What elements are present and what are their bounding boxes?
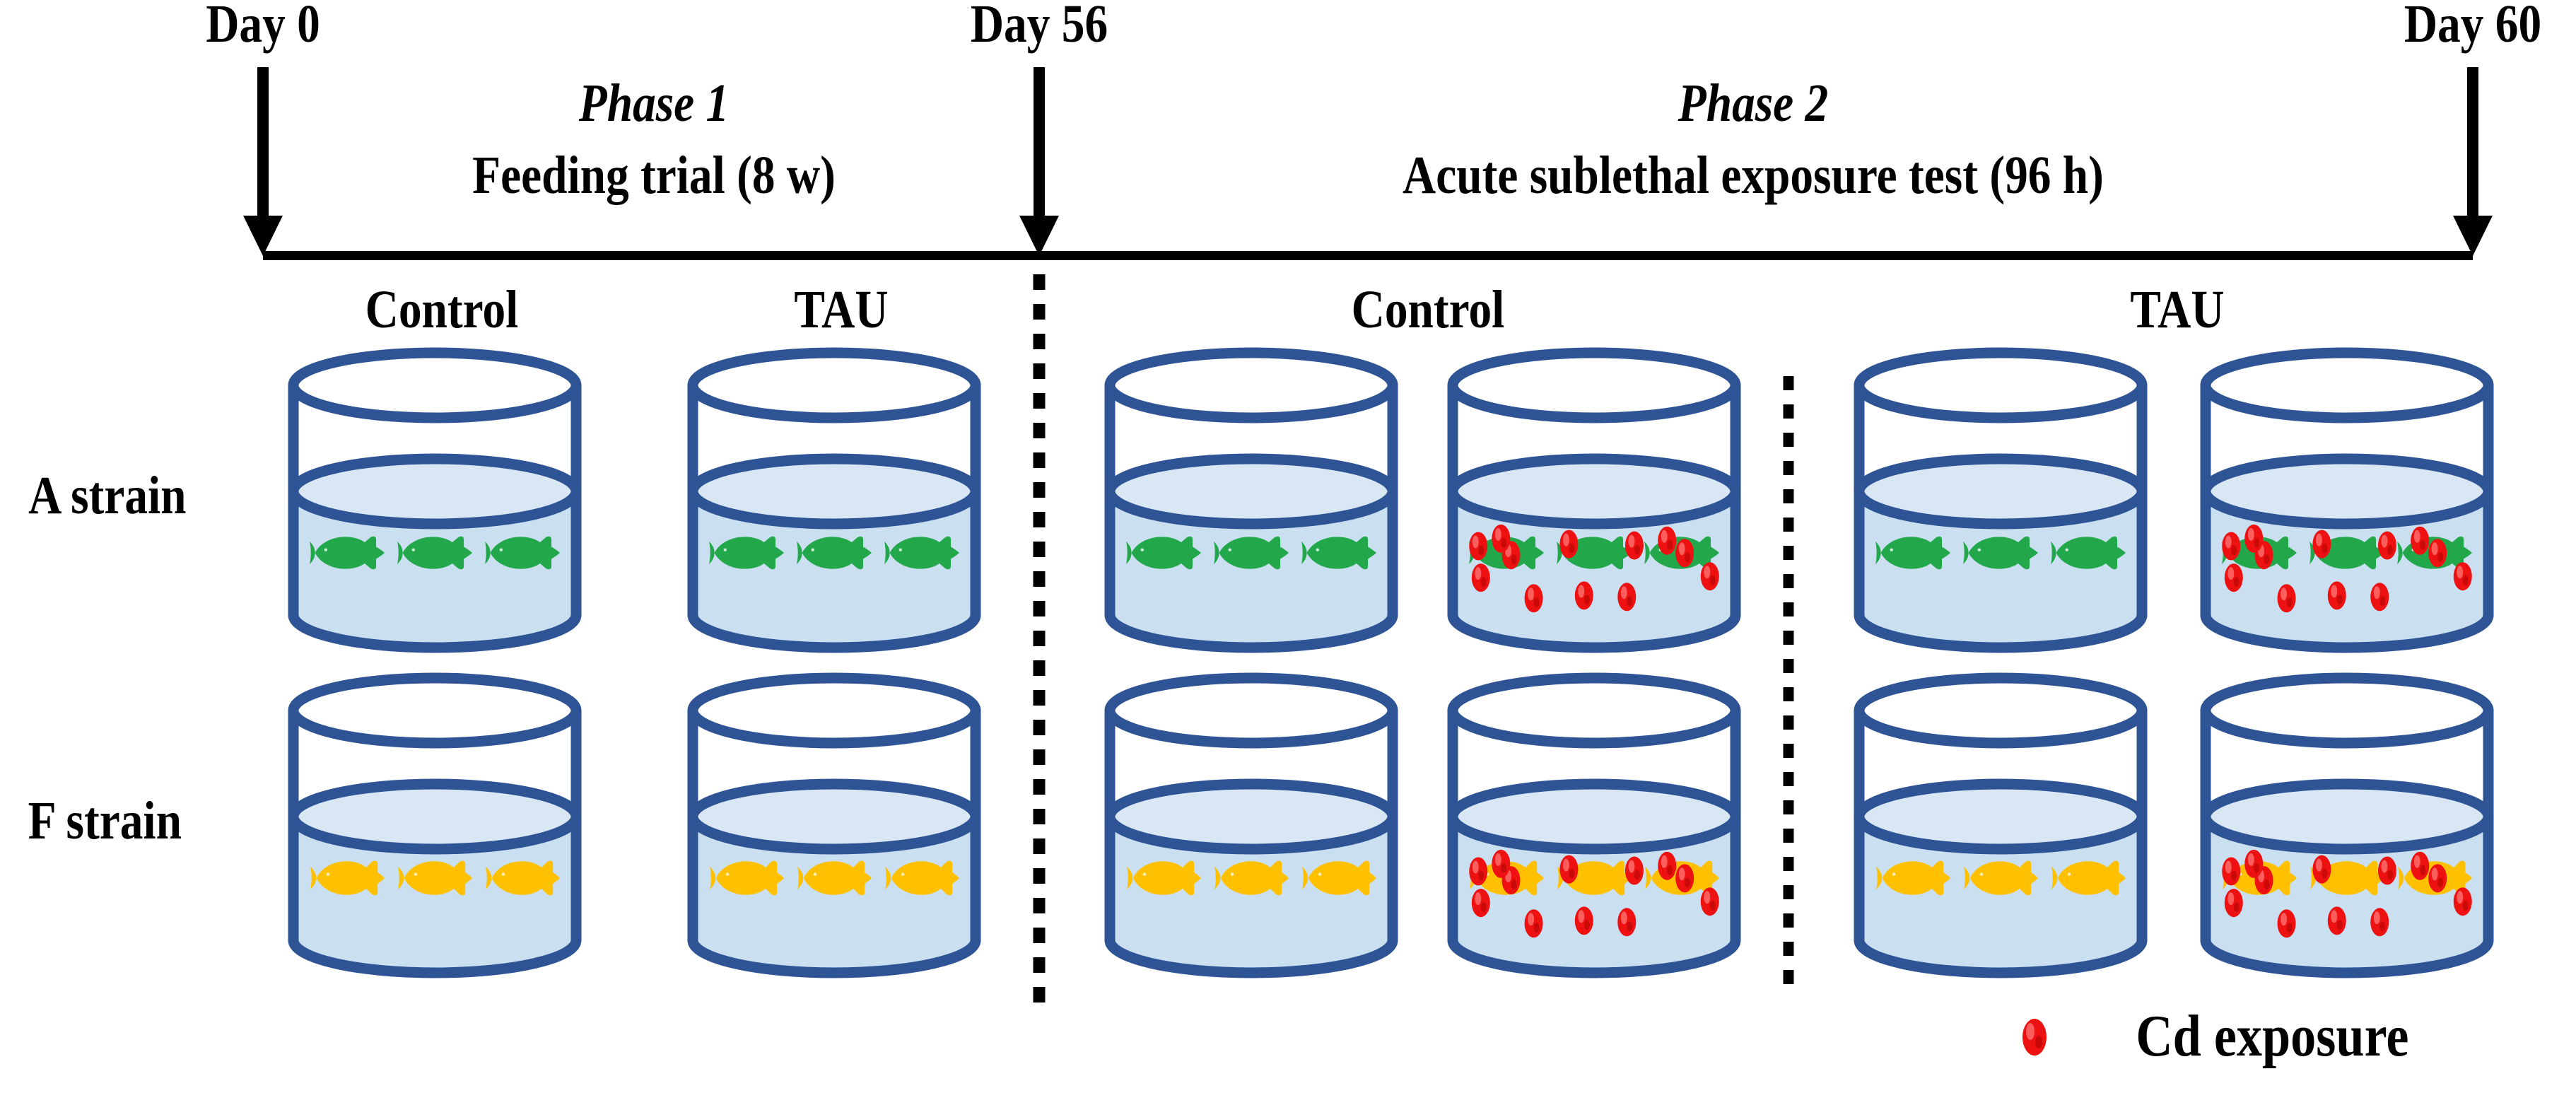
- tank-f-p2-control-cd: [1453, 678, 1735, 973]
- cd-dot-icon: [1492, 850, 1510, 878]
- row-label-a-strain: A strain: [28, 469, 186, 522]
- timeline-arrow-day56: [1019, 67, 1059, 256]
- phase1-title: Phase 1: [472, 76, 836, 130]
- cd-dot-icon: [1472, 889, 1490, 917]
- cd-dot-icon: [2312, 530, 2331, 559]
- timeline-label-day0: Day 0: [148, 0, 379, 51]
- cd-dot-icon: [1575, 906, 1593, 935]
- cd-dot-icon: [1469, 532, 1487, 561]
- cd-dot-icon: [2370, 583, 2389, 611]
- cd-dot-icon: [2244, 525, 2263, 553]
- group-header-p2-control: Control: [1276, 283, 1580, 337]
- timeline-label-day56: Day 56: [924, 0, 1155, 51]
- cd-dot-icon: [1617, 583, 1636, 611]
- cd-dot-icon: [1701, 887, 1719, 916]
- cd-dot-icon: [2225, 889, 2243, 917]
- cd-dot-icon: [1617, 908, 1636, 936]
- cd-dot-icon: [1492, 525, 1510, 553]
- cd-dot-icon: [2278, 909, 2296, 937]
- cd-dot-icon: [1469, 858, 1487, 886]
- cd-dot-icon: [2378, 532, 2396, 560]
- timeline-baseline: [263, 251, 2473, 260]
- cd-dot-icon: [2411, 852, 2429, 880]
- cd-dot-icon: [2428, 539, 2447, 567]
- cd-dot-icon: [2328, 906, 2346, 935]
- cd-dot-icon: [1472, 563, 1490, 592]
- cd-dot-icon: [1559, 530, 1578, 559]
- cd-dot-icon: [1575, 581, 1593, 609]
- timeline-label-day60: Day 60: [2358, 0, 2576, 51]
- legend-label: Cd exposure: [2136, 1007, 2408, 1066]
- cd-dot-icon: [1658, 527, 1676, 555]
- figure-canvas: Day 0 Day 56 Day 60 Phase 1 Feeding tria…: [0, 0, 2576, 1093]
- cd-dot-icon: [1658, 852, 1676, 880]
- phase2-subtitle: Acute sublethal exposure test (96 h): [1206, 148, 2300, 202]
- tank-f-p2-control: [1110, 678, 1393, 973]
- tank-f-p2-tau: [1859, 678, 2142, 973]
- cd-dot-icon: [1625, 532, 1644, 560]
- tank-a-p2-control: [1110, 353, 1393, 648]
- cd-dot-icon: [2244, 850, 2263, 878]
- cd-dot-icon: [1525, 584, 1543, 612]
- cd-dot-icon: [2222, 858, 2240, 886]
- cd-dot-icon: [1559, 855, 1578, 884]
- cd-dot-icon: [2222, 532, 2240, 561]
- cd-dot-icon: [1675, 864, 1694, 892]
- tank-a-p2-tau-cd: [2206, 353, 2488, 648]
- cd-dot-icon: [2312, 855, 2331, 884]
- tank-a-p1-tau: [693, 353, 976, 648]
- cd-dot-icon: [2428, 864, 2447, 892]
- cd-dot-icon: [2278, 584, 2296, 612]
- cd-dot-icon: [2454, 887, 2472, 916]
- cd-dot-icon: [2411, 527, 2429, 555]
- tank-f-p1-tau: [693, 678, 976, 973]
- cd-dot-icon: [2454, 562, 2472, 590]
- cd-dot-icon: [2328, 581, 2346, 609]
- tank-a-p1-control: [293, 353, 576, 648]
- cd-dot-icon: [1525, 909, 1543, 937]
- row-label-f-strain: F strain: [28, 794, 182, 848]
- group-header-p1-tau: TAU: [689, 283, 993, 337]
- tanks-layer: [293, 353, 2488, 973]
- cd-dot-icon: [1701, 562, 1719, 590]
- cd-dot-icon: [2022, 1019, 2047, 1056]
- tank-f-p1-control: [293, 678, 576, 973]
- cd-dot-icon: [2378, 857, 2396, 885]
- phase2-title: Phase 2: [1571, 76, 1936, 130]
- cd-dot-icon: [1625, 857, 1644, 885]
- tank-a-p2-tau: [1859, 353, 2142, 648]
- cd-dot-icon: [2370, 908, 2389, 936]
- timeline-arrow-day60: [2453, 67, 2493, 256]
- group-header-p1-control: Control: [290, 283, 594, 337]
- tank-a-p2-control-cd: [1453, 353, 1735, 648]
- tank-f-p2-tau-cd: [2206, 678, 2488, 973]
- cd-dot-icon: [2225, 563, 2243, 592]
- cd-dot-icon: [1675, 539, 1694, 567]
- group-header-p2-tau: TAU: [2025, 283, 2329, 337]
- phase1-subtitle: Feeding trial (8 w): [411, 148, 897, 202]
- timeline-arrow-day0: [243, 67, 283, 256]
